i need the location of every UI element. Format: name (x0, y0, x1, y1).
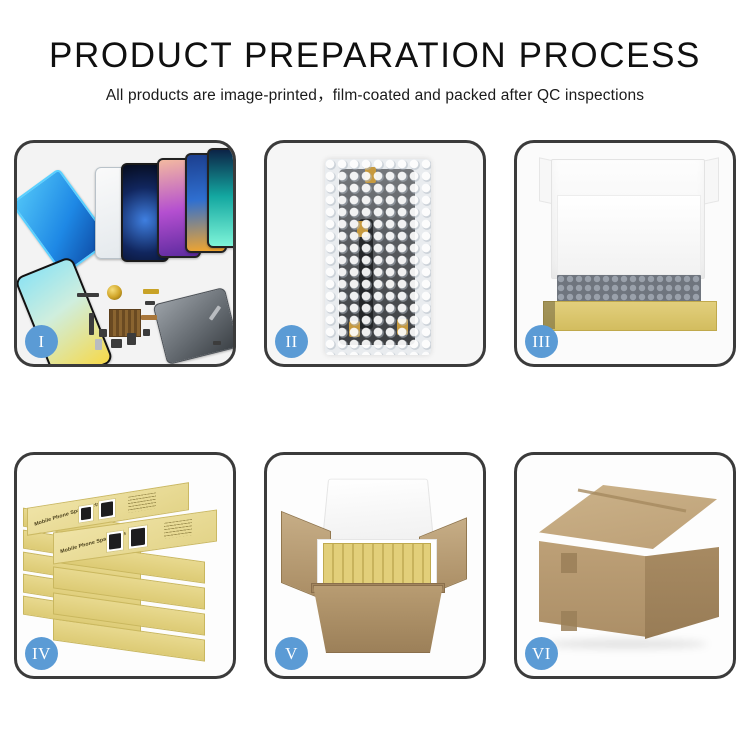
step-badge-5: V (275, 637, 308, 670)
carton-tape-upper (561, 553, 577, 573)
page-subtitle: All products are image-printed，film-coat… (0, 86, 750, 106)
small-part-4 (89, 313, 94, 335)
carton-tape-lower (561, 611, 577, 631)
carton-side-face (645, 547, 719, 639)
small-part-1 (77, 293, 99, 297)
box-window-back-2 (98, 498, 116, 521)
small-part-5 (99, 329, 107, 337)
step-badge-3: III (525, 325, 558, 358)
speaker-module-round (107, 285, 122, 300)
box-window-front-2 (128, 524, 148, 550)
process-step-panel-3: III (514, 140, 736, 367)
small-part-7 (111, 339, 122, 348)
foam-sheet (557, 195, 701, 275)
small-part-3 (145, 301, 155, 305)
product-preparation-process-infographic: PRODUCT PREPARATION PROCESS All products… (0, 0, 750, 750)
step-badge-2: II (275, 325, 308, 358)
small-part-6 (95, 339, 102, 350)
process-step-grid: I II (14, 140, 736, 679)
screws-group (213, 341, 221, 345)
step-badge-1: I (25, 325, 58, 358)
logic-board-component (109, 309, 141, 337)
box-text-lines-back (128, 492, 156, 512)
small-part-9 (141, 315, 157, 320)
yellow-boxes-inside (323, 543, 431, 585)
carton-body (313, 585, 443, 653)
phone-back-housing (153, 287, 233, 364)
step-badge-6: VI (525, 637, 558, 670)
process-step-panel-6: VI (514, 452, 736, 679)
step-badge-4: IV (25, 637, 58, 670)
process-step-panel-4: Mobile Phone Spare Parts Mobile Phone Sp… (14, 452, 236, 679)
small-part-2 (143, 289, 159, 294)
carton-shadow (547, 639, 707, 649)
process-step-panel-2: II (264, 140, 486, 367)
box-text-lines-front (164, 519, 192, 539)
box-flap-right (703, 157, 719, 204)
box-window-front-1 (106, 530, 124, 554)
box-window-back-1 (78, 503, 94, 524)
phone-teal-swirl (207, 148, 233, 248)
page-title: PRODUCT PREPARATION PROCESS (0, 36, 750, 76)
bubble-texture (325, 159, 431, 355)
small-part-10 (143, 329, 150, 336)
process-step-panel-1: I (14, 140, 236, 367)
carton-top-face (539, 485, 717, 549)
carton-front-face (539, 541, 647, 637)
process-step-panel-5: V (264, 452, 486, 679)
bubble-wrap-bag (325, 159, 431, 355)
foam-lid-open (321, 479, 434, 546)
small-part-8 (127, 333, 136, 345)
header: PRODUCT PREPARATION PROCESS All products… (0, 36, 750, 106)
kraft-box-tray (543, 301, 717, 331)
